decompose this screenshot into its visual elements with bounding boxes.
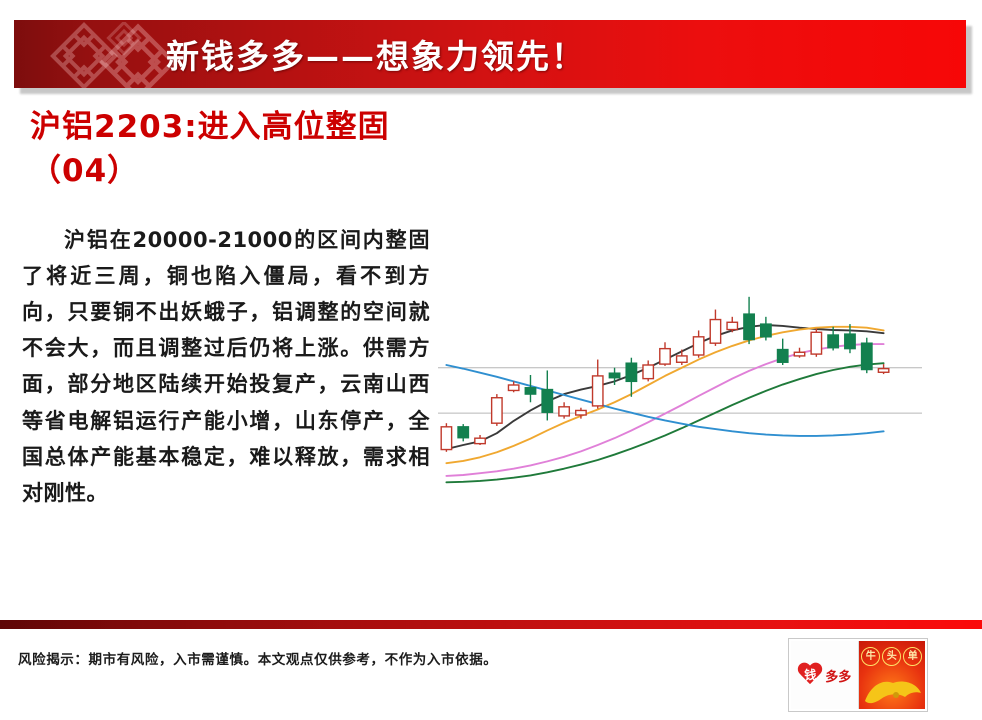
candle [794, 348, 804, 358]
heart-char: 钱 [797, 666, 823, 684]
candle [727, 317, 737, 332]
candle [458, 424, 468, 441]
page-title: 沪铝2203:进入高位整固（04） [30, 105, 430, 193]
logo-niutoudan: 牛 头 单 [859, 641, 926, 709]
candle [744, 297, 754, 344]
header-banner: 新钱多多——想象力领先！ [14, 20, 966, 88]
candle [475, 435, 485, 445]
candle [845, 324, 855, 353]
candle [441, 423, 451, 452]
candle [643, 360, 653, 381]
candle [761, 317, 771, 341]
candle [862, 338, 872, 373]
candle [811, 329, 821, 357]
candle [492, 394, 502, 426]
body-paragraph: 沪铝在20000-21000的区间内整固了将近三周，铜也陷入僵局，看不到方向，只… [22, 222, 430, 511]
candle [559, 402, 569, 418]
candle [878, 364, 888, 374]
logo-char-1: 牛 [861, 647, 880, 666]
logo-right-chars: 牛 头 单 [861, 647, 922, 666]
chart-canvas [430, 255, 930, 555]
candlestick-chart [430, 255, 930, 555]
candle [710, 310, 720, 346]
disclaimer-text: 风险揭示：期市有风险，入市需谨慎。本文观点仅供参考，不作为入市依据。 [18, 648, 497, 668]
brand-logo: 钱 多多 牛 头 单 [788, 638, 928, 712]
candle [542, 370, 552, 420]
banner-bar: 新钱多多——想象力领先！ [14, 20, 966, 88]
banner-title: 新钱多多——想象力领先！ [166, 30, 586, 78]
candle [626, 358, 636, 397]
candle [777, 339, 787, 365]
candle [693, 330, 703, 357]
bull-head-icon [863, 671, 923, 707]
footer-divider [0, 620, 982, 629]
candle [593, 360, 603, 409]
logo-char-3: 单 [903, 647, 922, 666]
logo-left-text: 多多 [825, 666, 851, 685]
candle [660, 342, 670, 366]
logo-qianduoduo: 钱 多多 [791, 641, 859, 709]
slide-root: 新钱多多——想象力领先！ 沪铝2203:进入高位整固（04） 沪铝在20000-… [0, 0, 982, 720]
candle [677, 350, 687, 365]
candle [525, 375, 535, 402]
heart-icon: 钱 [797, 663, 823, 687]
logo-char-2: 头 [882, 647, 901, 666]
